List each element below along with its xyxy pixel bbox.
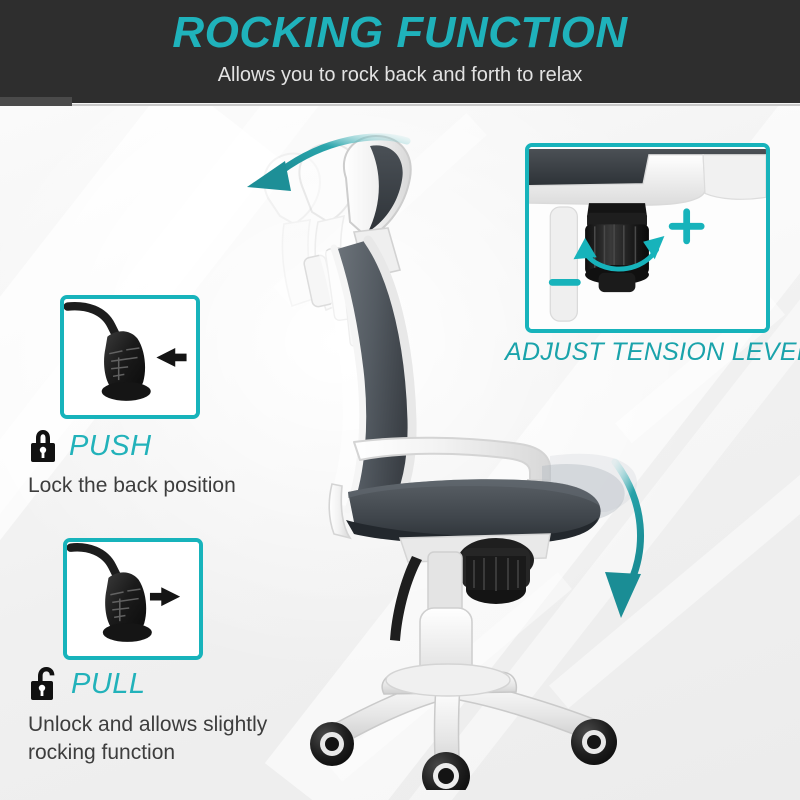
push-description: Lock the back position bbox=[28, 472, 278, 500]
caption-pull: PULL Unlock and allows slightly rocking … bbox=[28, 665, 296, 767]
page-title: ROCKING FUNCTION bbox=[0, 7, 800, 59]
caption-push: PUSH Lock the back position bbox=[28, 428, 278, 500]
caster bbox=[310, 722, 354, 766]
panel-pull[interactable] bbox=[63, 538, 203, 660]
pull-keyword: PULL bbox=[71, 668, 146, 700]
panel-tension[interactable] bbox=[525, 143, 770, 333]
caster bbox=[571, 719, 617, 765]
caster bbox=[422, 752, 470, 790]
seat bbox=[329, 479, 600, 544]
padlock-closed-icon bbox=[28, 428, 58, 464]
pull-row: PULL bbox=[28, 665, 296, 703]
push-keyword: PUSH bbox=[69, 430, 152, 462]
tension-knob bbox=[466, 556, 526, 604]
headrest bbox=[344, 136, 411, 238]
height-lever bbox=[390, 556, 422, 641]
tension-knob-photo bbox=[529, 147, 766, 331]
header-divider bbox=[72, 104, 800, 106]
pull-description: Unlock and allows slightly rocking funct… bbox=[28, 711, 276, 767]
tension-panel-label: ADJUST TENSION LEVEL bbox=[505, 337, 800, 367]
header-accent-block bbox=[0, 97, 72, 106]
panel-push[interactable] bbox=[60, 295, 200, 419]
lever-pull-photo bbox=[67, 542, 199, 657]
tension-knob-icon bbox=[585, 203, 649, 292]
infographic-poster: ADJUST TENSION LEVEL bbox=[0, 0, 800, 800]
backrest bbox=[318, 240, 412, 514]
header-bar: ROCKING FUNCTION Allows you to rock back… bbox=[0, 0, 800, 103]
five-star-base bbox=[334, 664, 596, 774]
padlock-open-icon bbox=[28, 665, 60, 703]
page-subtitle: Allows you to rock back and forth to rel… bbox=[0, 61, 800, 89]
push-row: PUSH bbox=[28, 428, 278, 464]
lever-push-photo bbox=[64, 299, 196, 416]
